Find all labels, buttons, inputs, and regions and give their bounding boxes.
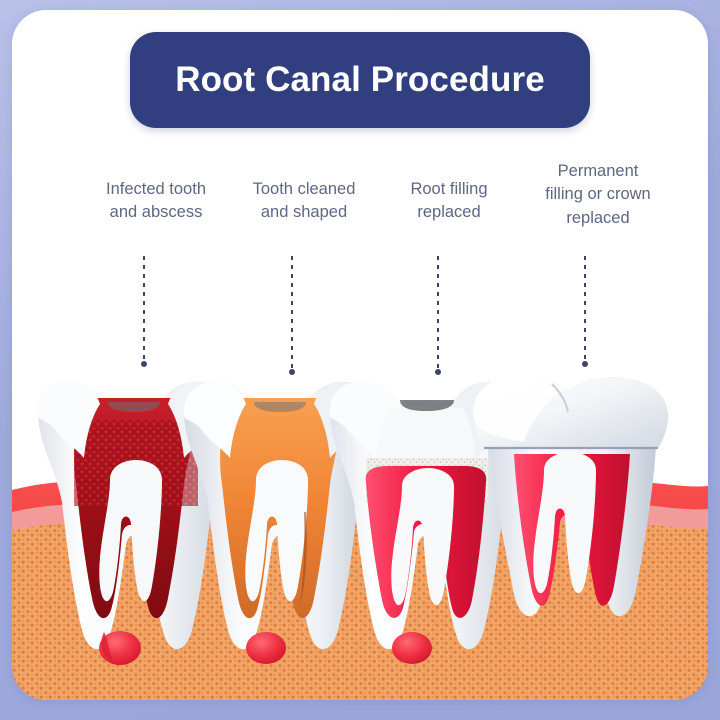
step-2-label-line2: and shaped <box>220 201 388 224</box>
title-banner: Root Canal Procedure <box>130 32 590 128</box>
step-3-label-line1: Root filling <box>370 178 528 201</box>
step-3-caption: Root filling replaced <box>370 178 528 225</box>
page-title: Root Canal Procedure <box>175 60 545 100</box>
step-1-leader-line <box>143 256 145 364</box>
step-4-label-line1: Permanent <box>508 160 688 183</box>
step-2-caption: Tooth cleaned and shaped <box>220 178 388 225</box>
step-4-caption: Permanent filling or crown replaced <box>508 160 688 230</box>
infographic-card: Root Canal Procedure Infected tooth and … <box>12 10 708 700</box>
app-canvas: Root Canal Procedure Infected tooth and … <box>0 0 720 720</box>
tooth-anatomy-illustration <box>12 362 708 700</box>
step-2-leader-line <box>291 256 293 372</box>
gum-front-overlay <box>12 530 708 700</box>
step-1-caption: Infected tooth and abscess <box>72 178 240 225</box>
step-4-label-line3: replaced <box>508 207 688 230</box>
step-4-leader-line <box>584 256 586 364</box>
step-1-label-line1: Infected tooth <box>72 178 240 201</box>
step-3-label-line2: replaced <box>370 201 528 224</box>
step-1-label-line2: and abscess <box>72 201 240 224</box>
step-2-label-line1: Tooth cleaned <box>220 178 388 201</box>
step-4-label-line2: filling or crown <box>508 183 688 206</box>
step-3-leader-line <box>437 256 439 372</box>
